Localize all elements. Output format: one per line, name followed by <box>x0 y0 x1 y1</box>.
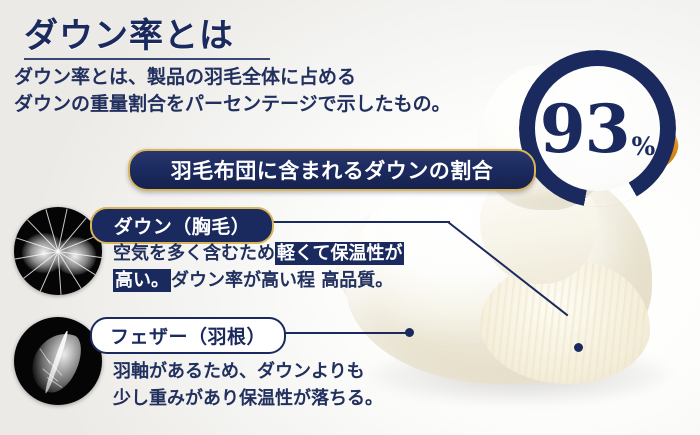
banner-label: 羽毛布団に含まれるダウンの割合 <box>171 155 494 185</box>
subtitle-line-2: ダウンの重量割合をパーセンテージで示したもの。 <box>14 91 534 118</box>
down-line2-highlight: 高い。 <box>113 269 171 292</box>
badge-value: 93 <box>540 96 630 162</box>
thumbnail-feather <box>14 317 102 405</box>
description-feather: 羽軸があるため、ダウンよりも 少し重みがあり保温性が落ちる。 <box>113 358 453 412</box>
connector-down-horizontal <box>270 221 450 223</box>
infographic-canvas: ダウン率とは ダウン率とは、製品の羽毛全体に占める ダウンの重量割合をパーセンテ… <box>0 0 700 435</box>
down-line1-highlight: 軽くて保温性が <box>275 242 404 265</box>
connector-feather-endpoint-dot <box>405 328 414 337</box>
page-title: ダウン率とは <box>24 8 234 57</box>
label-pill-down-text: ダウン（胸毛） <box>114 212 251 239</box>
description-down-line-1: 空気を多く含むため軽くて保温性が <box>113 240 443 267</box>
down-ratio-badge: 93 % <box>519 50 676 207</box>
description-feather-line-1: 羽軸があるため、ダウンよりも <box>113 358 453 385</box>
title-underline <box>24 58 270 60</box>
down-line2-plain: ダウン率が高い程 高品質。 <box>171 270 393 291</box>
connector-down-endpoint-dot <box>574 343 583 352</box>
badge-inner-disc: 93 % <box>535 66 660 191</box>
down-line1-plain: 空気を多く含むため <box>113 243 275 264</box>
thumbnail-down <box>14 207 102 295</box>
description-down-line-2: 高い。ダウン率が高い程 高品質。 <box>113 267 443 294</box>
banner-down-ratio: 羽毛布団に含まれるダウンの割合 <box>128 149 536 191</box>
subtitle-line-1: ダウン率とは、製品の羽毛全体に占める <box>14 64 534 91</box>
description-down: 空気を多く含むため軽くて保温性が 高い。ダウン率が高い程 高品質。 <box>113 240 443 294</box>
description-feather-line-2: 少し重みがあり保温性が落ちる。 <box>113 385 453 412</box>
label-pill-feather-text: フェザー（羽根） <box>110 322 266 349</box>
connector-feather-horizontal <box>282 332 410 334</box>
label-pill-down: ダウン（胸毛） <box>90 207 274 244</box>
page-subtitle: ダウン率とは、製品の羽毛全体に占める ダウンの重量割合をパーセンテージで示したも… <box>14 64 534 118</box>
badge-unit: % <box>632 132 656 161</box>
label-pill-feather: フェザー（羽根） <box>90 317 286 354</box>
